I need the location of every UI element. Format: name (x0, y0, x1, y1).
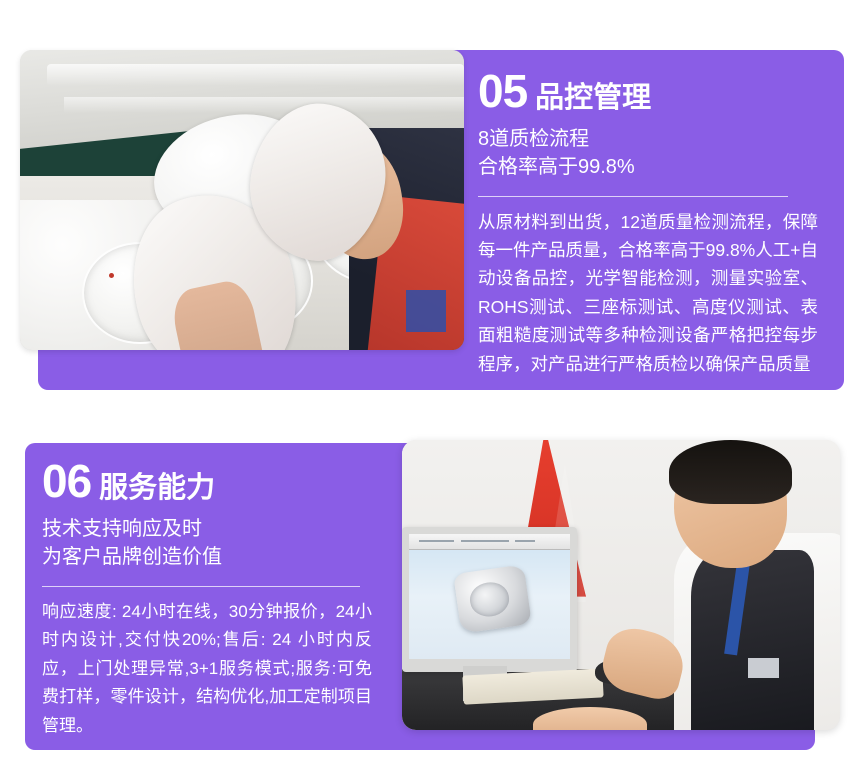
headline-06: 06 服务能力 (42, 458, 382, 504)
quality-inspection-photo (20, 50, 464, 350)
section-service-capability: 06 服务能力 技术支持响应及时 为客户品牌创造价值 响应速度: 24小时在线，… (0, 400, 860, 780)
section-quality-control: 05 品控管理 8道质检流程 合格率高于99.8% 从原材料到出货，12道质量检… (0, 0, 860, 400)
cad-toolbar (409, 534, 570, 550)
engineer-hair (669, 440, 792, 504)
section-title-06: 服务能力 (99, 474, 215, 503)
section-body-05: 从原材料到出货，12道质量检测流程，保障每一件产品质量，合格率高于99.8%人工… (478, 208, 818, 378)
section-number-05: 05 (478, 68, 527, 114)
page-root: 05 品控管理 8道质检流程 合格率高于99.8% 从原材料到出货，12道质量检… (0, 0, 860, 780)
headline-05: 05 品控管理 (478, 68, 818, 114)
engineer-cad-photo (402, 440, 840, 730)
section-number-06: 06 (42, 458, 91, 504)
uniform-logo (406, 290, 446, 332)
content-block-06: 06 服务能力 技术支持响应及时 为客户品牌创造价值 响应速度: 24小时在线，… (42, 458, 382, 741)
content-block-05: 05 品控管理 8道质检流程 合格率高于99.8% 从原材料到出货，12道质量检… (478, 68, 818, 378)
section-subtitle-06: 技术支持响应及时 为客户品牌创造价值 (42, 515, 382, 572)
red-marker-dot-1 (109, 273, 114, 278)
monitor (402, 527, 577, 672)
cad-3d-model (454, 565, 533, 634)
vest-badge (748, 658, 779, 678)
section-subtitle-05: 8道质检流程 合格率高于99.8% (478, 125, 818, 182)
divider-06 (42, 586, 360, 587)
monitor-screen (409, 534, 570, 659)
section-body-06: 响应速度: 24小时在线，30分钟报价，24小时内设计,交付快20%;售后: 2… (42, 598, 372, 741)
divider-05 (478, 196, 788, 197)
engineer-vest (691, 550, 814, 730)
section-title-05: 品控管理 (535, 84, 651, 113)
